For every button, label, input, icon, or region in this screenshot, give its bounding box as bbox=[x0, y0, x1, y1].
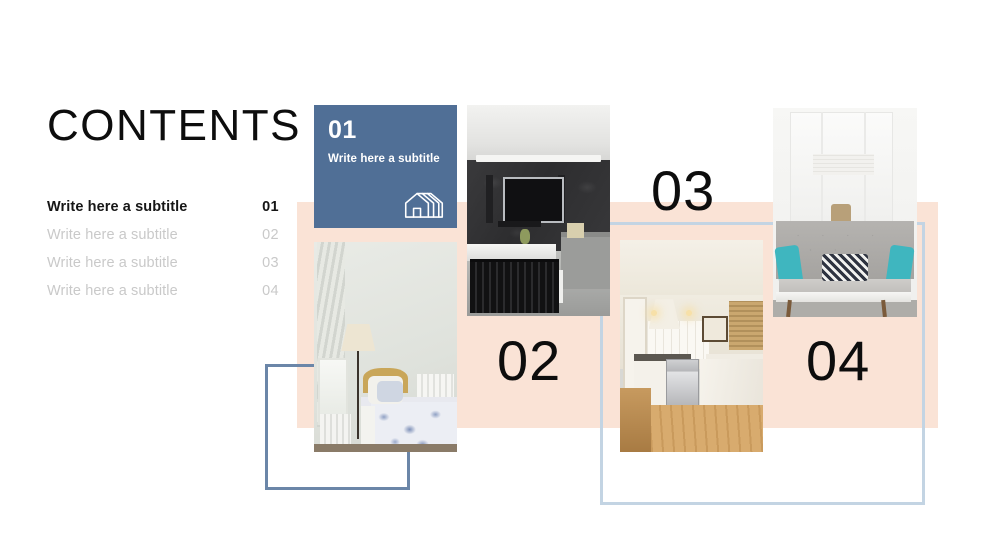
photo-sofa bbox=[773, 108, 917, 317]
section-card-01[interactable]: 01 Write here a subtitle bbox=[314, 105, 457, 228]
section-number-03: 03 bbox=[651, 163, 715, 219]
list-item-number: 03 bbox=[262, 249, 279, 277]
list-item[interactable]: Write here a subtitle 01 bbox=[47, 193, 279, 221]
list-item-label: Write here a subtitle bbox=[47, 249, 178, 277]
slide-canvas: CONTENTS Write here a subtitle 01 Write … bbox=[0, 0, 988, 556]
house-outline-icon bbox=[404, 188, 444, 220]
list-item-label: Write here a subtitle bbox=[47, 193, 187, 221]
contents-list: Write here a subtitle 01 Write here a su… bbox=[47, 193, 279, 305]
section-number-04: 04 bbox=[806, 333, 870, 389]
list-item-number: 02 bbox=[262, 221, 279, 249]
photo-bedroom bbox=[314, 242, 457, 452]
list-item[interactable]: Write here a subtitle 04 bbox=[47, 277, 279, 305]
list-item-number: 01 bbox=[262, 193, 279, 221]
list-item-label: Write here a subtitle bbox=[47, 277, 178, 305]
section-card-01-number: 01 bbox=[328, 118, 443, 143]
list-item-label: Write here a subtitle bbox=[47, 221, 178, 249]
list-item[interactable]: Write here a subtitle 03 bbox=[47, 249, 279, 277]
section-number-02: 02 bbox=[497, 333, 561, 389]
page-title: CONTENTS bbox=[47, 104, 301, 148]
photo-kitchen bbox=[620, 240, 763, 452]
list-item[interactable]: Write here a subtitle 02 bbox=[47, 221, 279, 249]
list-item-number: 04 bbox=[262, 277, 279, 305]
section-card-01-subtitle: Write here a subtitle bbox=[328, 153, 443, 165]
photo-living-room bbox=[467, 105, 610, 316]
